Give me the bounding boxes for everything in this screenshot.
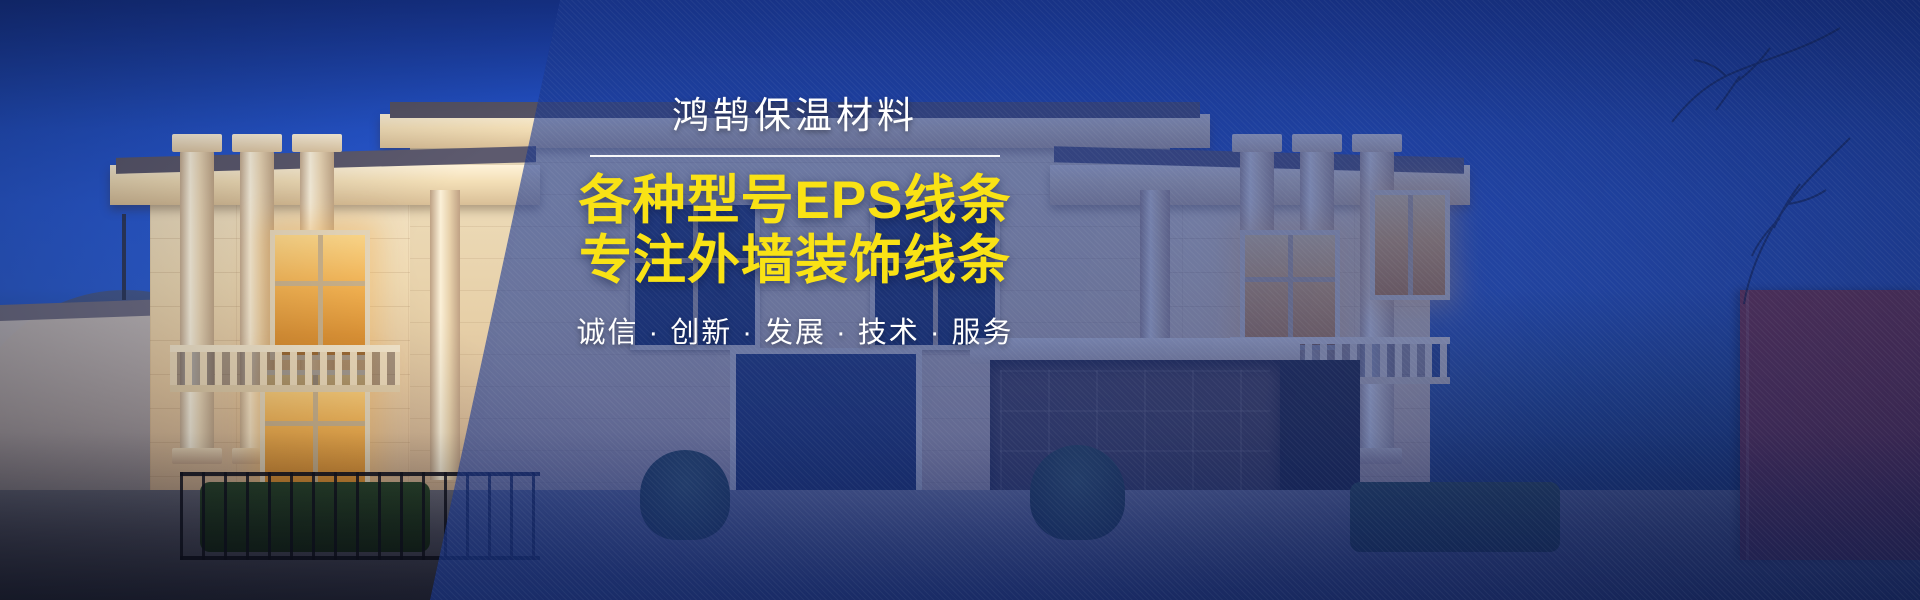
brand-name: 鸿鹄保温材料: [560, 96, 1030, 137]
headline-line-1: 各种型号EPS线条: [560, 171, 1030, 231]
banner-copy: 鸿鹄保温材料 各种型号EPS线条 专注外墙装饰线条 诚信 · 创新 · 发展 ·…: [560, 96, 1030, 351]
tagline: 诚信 · 创新 · 发展 · 技术 · 服务: [560, 316, 1030, 351]
divider-rule: [590, 155, 1000, 157]
hero-banner: 鸿鹄保温材料 各种型号EPS线条 专注外墙装饰线条 诚信 · 创新 · 发展 ·…: [0, 0, 1920, 600]
headline-line-2: 专注外墙装饰线条: [560, 231, 1030, 291]
